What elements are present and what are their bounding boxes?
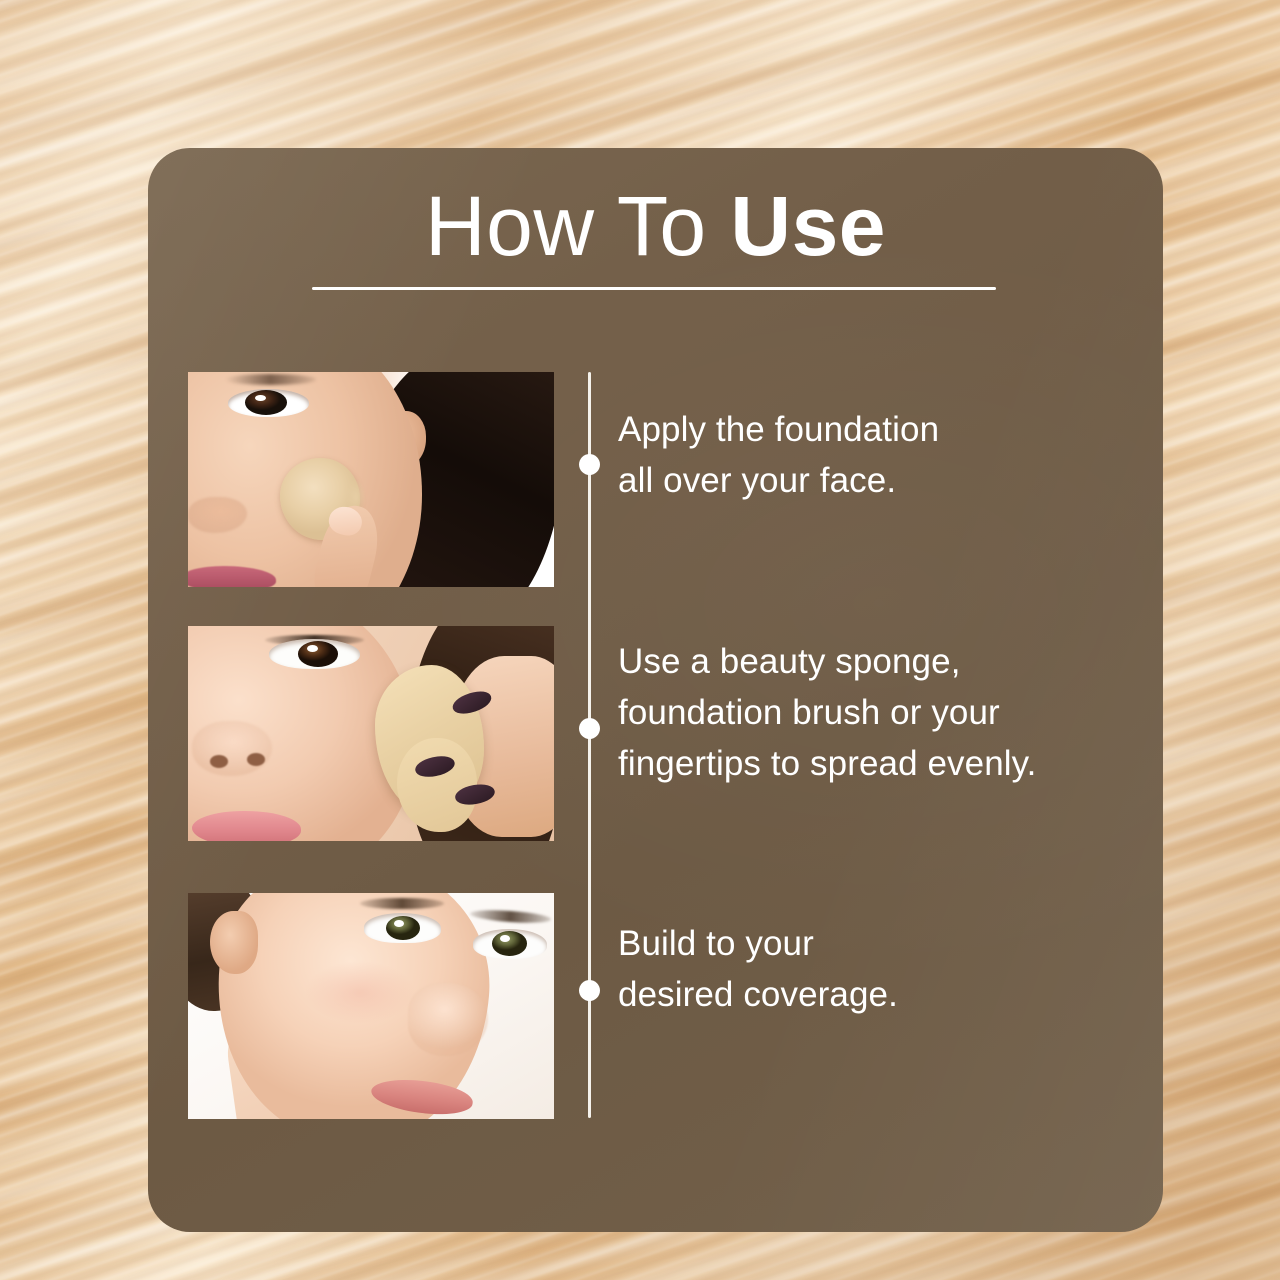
poster-canvas: How To Use — [0, 0, 1280, 1280]
how-to-use-card: How To Use — [148, 148, 1163, 1232]
step-3-photo — [188, 893, 554, 1119]
timeline-dot-step-2 — [579, 718, 600, 739]
timeline-dot-step-1 — [579, 454, 600, 475]
timeline-connector-line — [588, 372, 591, 1118]
step-1-caption: Apply the foundation all over your face. — [618, 404, 1158, 506]
step-2-photo — [188, 626, 554, 841]
step-2-caption: Use a beauty sponge, foundation brush or… — [618, 636, 1158, 789]
title-underline-divider — [312, 287, 996, 290]
title-bold-part: Use — [730, 179, 886, 273]
title-text: How To Use — [148, 182, 1163, 270]
step-3-caption: Build to your desired coverage. — [618, 918, 1158, 1020]
page-title: How To Use — [148, 182, 1163, 270]
timeline-dot-step-3 — [579, 980, 600, 1001]
title-light-part: How To — [425, 179, 730, 273]
step-1-photo — [188, 372, 554, 587]
